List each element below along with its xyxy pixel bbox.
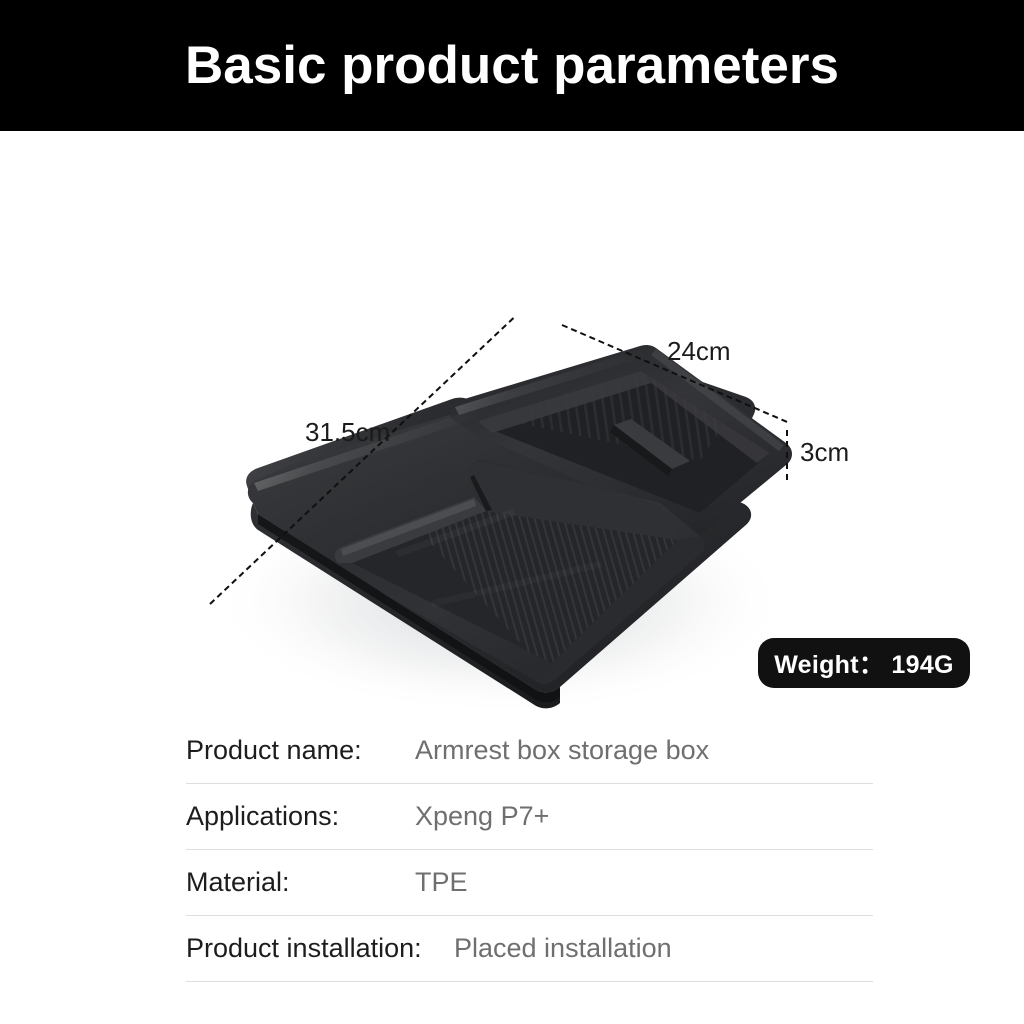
spec-label-material: Material:	[186, 869, 290, 896]
table-row: Product name: Armrest box storage box	[186, 718, 873, 784]
spec-value-material: TPE	[415, 869, 468, 896]
spec-value-product-installation: Placed installation	[454, 935, 672, 962]
dimension-label-height: 3cm	[800, 439, 849, 465]
table-row: Material: TPE	[186, 850, 873, 916]
weight-badge-text: Weight： 194G	[774, 645, 954, 681]
table-row: Product installation: Placed installatio…	[186, 916, 873, 982]
dimension-label-length: 31.5cm	[305, 419, 390, 445]
spec-label-product-installation: Product installation:	[186, 935, 422, 962]
dimension-label-width: 24cm	[667, 338, 731, 364]
spec-label-product-name: Product name:	[186, 737, 362, 764]
weight-badge: Weight： 194G	[758, 638, 970, 688]
spec-label-applications: Applications:	[186, 803, 339, 830]
spec-value-applications: Xpeng P7+	[415, 803, 549, 830]
product-illustration	[0, 131, 1024, 711]
table-row: Applications: Xpeng P7+	[186, 784, 873, 850]
page-header: Basic product parameters	[0, 0, 1024, 131]
spec-value-product-name: Armrest box storage box	[415, 737, 709, 764]
spec-table: Product name: Armrest box storage box Ap…	[186, 718, 873, 982]
product-parameters-page: Basic product parameters	[0, 0, 1024, 1024]
page-title: Basic product parameters	[185, 39, 839, 92]
dimension-line-height	[786, 430, 788, 480]
product-image-area: 31.5cm 24cm 3cm	[0, 131, 1024, 711]
